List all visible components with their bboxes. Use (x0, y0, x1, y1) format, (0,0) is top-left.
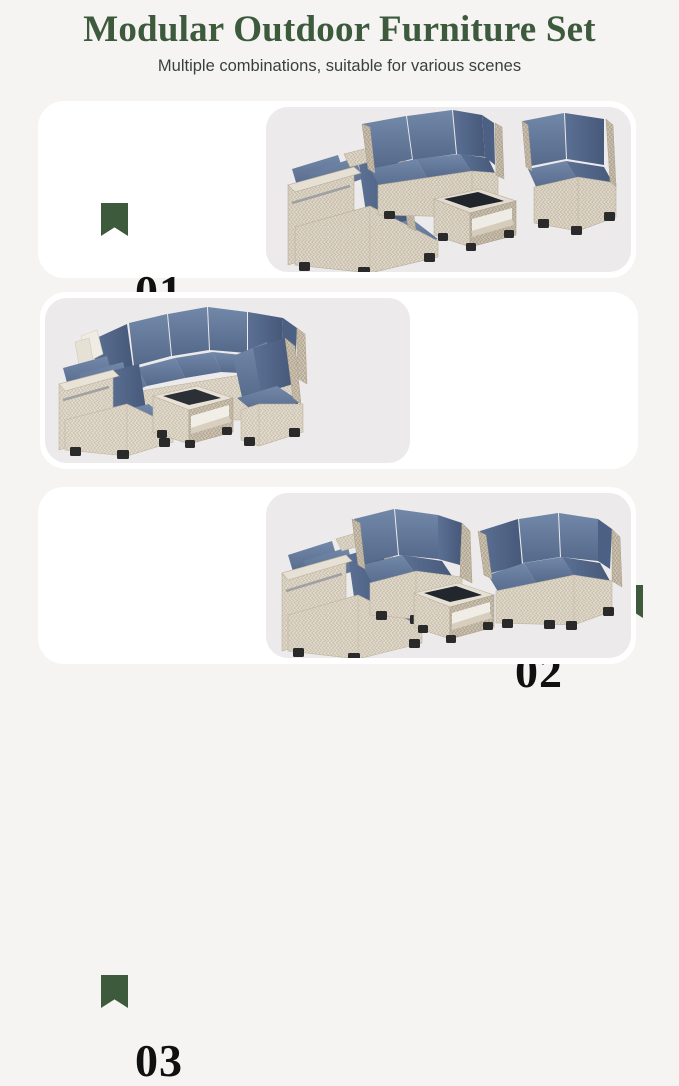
armless-chair (233, 338, 303, 446)
furniture-scene-01 (266, 107, 631, 272)
product-photo-03 (266, 493, 631, 658)
combination-card-02[interactable]: 02 (40, 292, 638, 469)
combination-number-03: 03 (135, 1038, 183, 1084)
header: Modular Outdoor Furniture Set Multiple c… (0, 0, 679, 77)
furniture-scene-03 (266, 493, 631, 658)
coffee-table (434, 189, 516, 251)
page-title: Modular Outdoor Furniture Set (0, 9, 679, 50)
coffee-table (414, 583, 494, 643)
page-subtitle: Multiple combinations, suitable for vari… (0, 57, 679, 77)
product-photo-02 (45, 298, 410, 463)
combination-card-01[interactable]: 01 (38, 101, 636, 278)
bookmark-flag-icon (101, 203, 128, 236)
three-seat-sofa (478, 513, 622, 630)
loveseat-right (522, 113, 616, 235)
product-photo-01 (266, 107, 631, 272)
bookmark-flag-icon (101, 975, 128, 1008)
furniture-scene-02 (45, 298, 410, 463)
combination-card-03[interactable]: 03 (38, 487, 636, 664)
infographic-page: Modular Outdoor Furniture Set Multiple c… (0, 0, 679, 679)
